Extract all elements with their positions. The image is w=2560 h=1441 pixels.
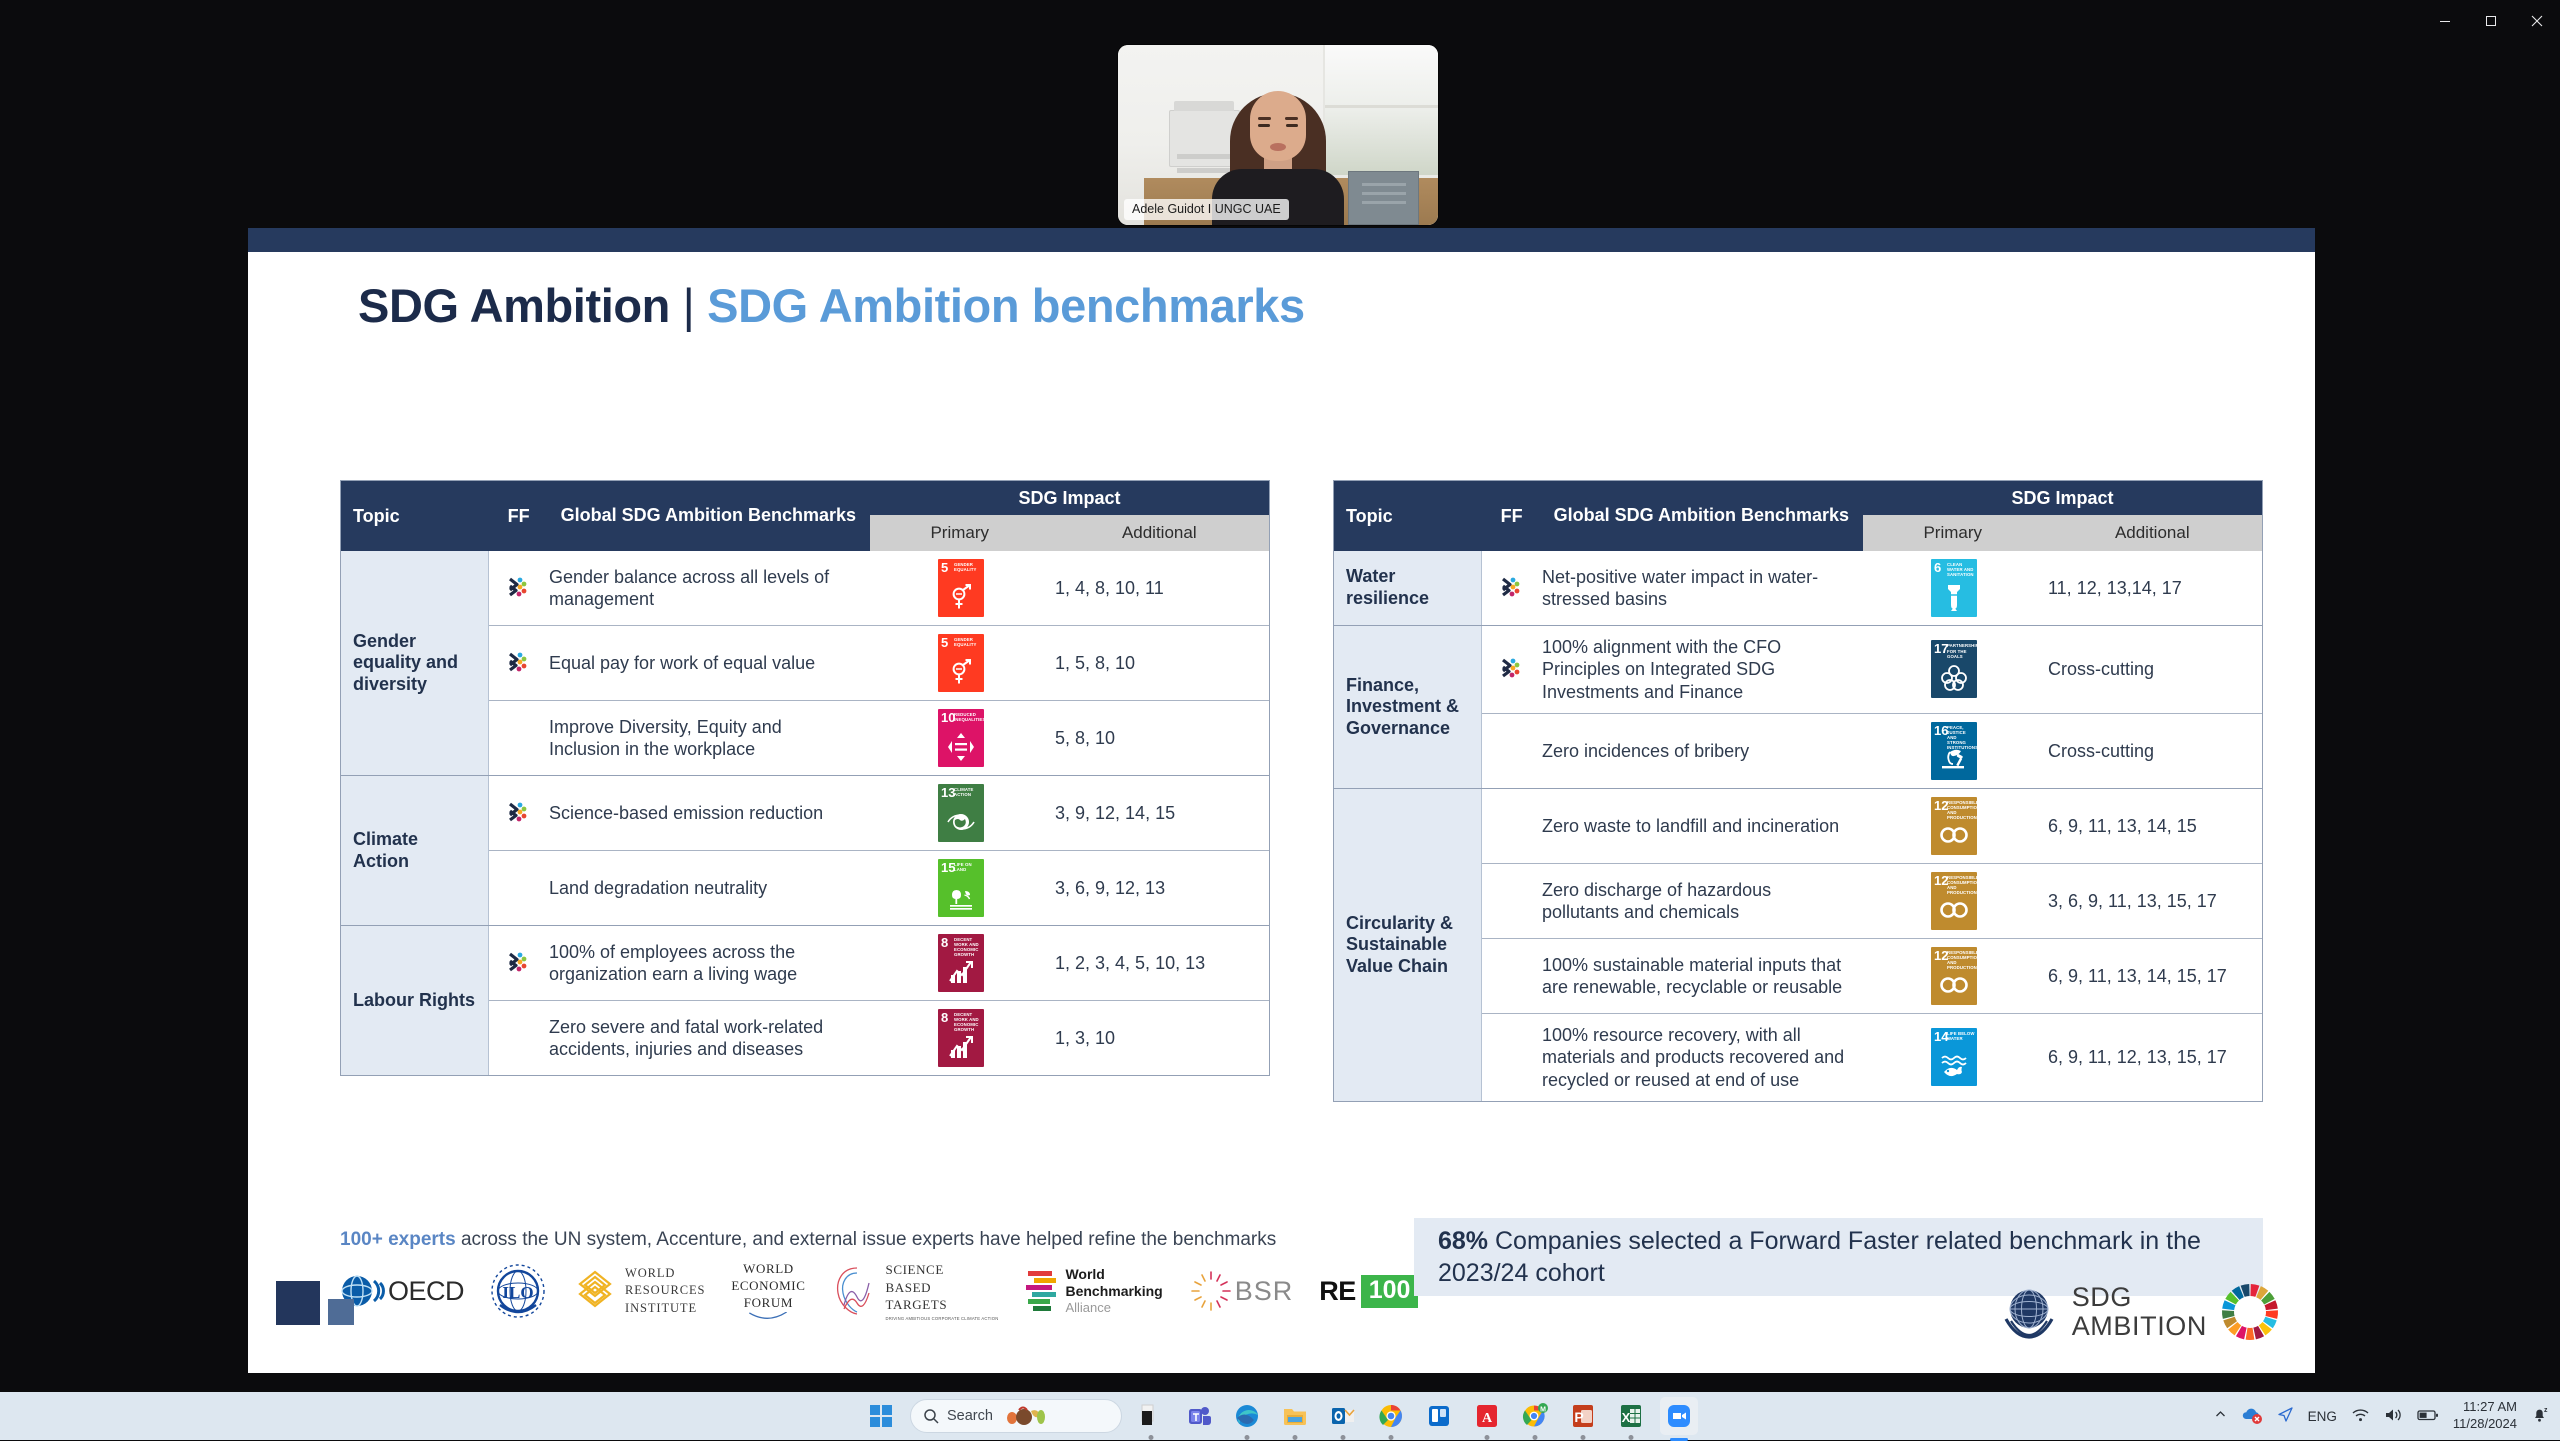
wba-bars-icon bbox=[1024, 1267, 1060, 1315]
taskbar-icon-teams[interactable] bbox=[1180, 1397, 1218, 1435]
wba-line2: Benchmarking bbox=[1065, 1283, 1162, 1300]
close-button[interactable] bbox=[2514, 0, 2560, 42]
table-row: Net-positive water impact in water-stres… bbox=[1482, 551, 2262, 625]
video-participant-tile[interactable]: Adele Guidot I UNGC UAE bbox=[1118, 45, 1438, 225]
start-button[interactable] bbox=[862, 1397, 900, 1435]
office-cabinet bbox=[1348, 171, 1418, 225]
topic-label: Finance, Investment & Governance bbox=[1334, 626, 1482, 788]
maximize-button[interactable] bbox=[2468, 0, 2514, 42]
forward-faster-icon bbox=[506, 800, 532, 826]
wef-line2: ECONOMIC bbox=[731, 1278, 805, 1295]
svg-text:P: P bbox=[1574, 1409, 1583, 1425]
re100-text-dark: RE bbox=[1319, 1276, 1356, 1307]
primary-sdg-cell: 12RESPONSIBLE CONSUMPTION AND PRODUCTION bbox=[1864, 939, 2044, 1013]
gender-equality-icon: 5GENDER EQUALITY bbox=[938, 559, 984, 617]
table-row: 100% of employees across the organizatio… bbox=[489, 926, 1269, 1000]
primary-sdg-cell: 8DECENT WORK AND ECONOMIC GROWTH bbox=[871, 926, 1051, 1000]
forward-faster-icon bbox=[506, 650, 532, 676]
topic-rows: Zero waste to landfill and incineration1… bbox=[1482, 789, 2262, 1101]
svg-text:A: A bbox=[1482, 1411, 1493, 1426]
benchmark-text: Zero waste to landfill and incineration bbox=[1542, 805, 1864, 847]
bsr-burst-icon bbox=[1189, 1269, 1233, 1313]
science-based-targets-logo: SCIENCE BASED TARGETS DRIVING AMBITIOUS … bbox=[832, 1261, 999, 1321]
callout-percent: 68% bbox=[1438, 1227, 1488, 1255]
wef-swoosh-icon bbox=[746, 1312, 790, 1321]
additional-sdgs: 5, 8, 10 bbox=[1051, 719, 1269, 757]
benchmark-text: Zero severe and fatal work-related accid… bbox=[549, 1006, 871, 1071]
table-header-right: Topic FF Global SDG Ambition Benchmarks … bbox=[1334, 481, 2262, 551]
forward-faster-cell bbox=[489, 950, 549, 976]
column-header-topic: Topic bbox=[1334, 481, 1482, 551]
oecd-logo: OECD bbox=[340, 1261, 464, 1321]
responsible-consumption-icon: 12RESPONSIBLE CONSUMPTION AND PRODUCTION bbox=[1931, 872, 1977, 930]
oecd-logo-text: OECD bbox=[388, 1276, 464, 1307]
bsr-logo-text: BSR bbox=[1235, 1276, 1294, 1307]
language-indicator[interactable]: ENG bbox=[2308, 1409, 2337, 1424]
topic-label: Labour Rights bbox=[341, 926, 489, 1075]
benchmark-text: Improve Diversity, Equity and Inclusion … bbox=[549, 706, 871, 771]
column-header-ff: FF bbox=[489, 481, 549, 551]
clock[interactable]: 11:27 AM 11/28/2024 bbox=[2453, 1399, 2517, 1432]
un-global-compact-icon bbox=[1998, 1281, 2060, 1343]
re100-logo: RE 100 bbox=[1319, 1261, 1418, 1321]
table-header-left: Topic FF Global SDG Ambition Benchmarks … bbox=[341, 481, 1269, 551]
column-header-sdg-impact: SDG Impact Primary Additional bbox=[870, 481, 1269, 551]
decorative-square-small bbox=[328, 1299, 354, 1325]
wri-line2: RESOURCES bbox=[625, 1282, 705, 1300]
topic-group: Finance, Investment & Governance100% ali… bbox=[1334, 625, 2262, 788]
taskbar-icon-trello[interactable] bbox=[1420, 1397, 1458, 1435]
search-icon bbox=[923, 1408, 939, 1424]
primary-sdg-cell: 10REDUCED INEQUALITIES bbox=[871, 701, 1051, 775]
column-header-topic: Topic bbox=[341, 481, 489, 551]
additional-sdgs: 3, 6, 9, 11, 13, 15, 17 bbox=[2044, 882, 2262, 920]
topic-group: Gender equality and diversityGender bala… bbox=[341, 551, 1269, 775]
primary-sdg-cell: 5GENDER EQUALITY bbox=[871, 626, 1051, 700]
partner-logos: OECD ILO WORLD bbox=[340, 1258, 1418, 1324]
bsr-logo: BSR bbox=[1189, 1261, 1294, 1321]
forward-faster-icon bbox=[1499, 656, 1525, 682]
topic-label: Gender equality and diversity bbox=[341, 551, 489, 775]
world-economic-forum-logo: WORLD ECONOMIC FORUM bbox=[731, 1261, 805, 1321]
brand-line1: SDG bbox=[2072, 1283, 2207, 1312]
primary-sdg-cell: 8DECENT WORK AND ECONOMIC GROWTH bbox=[871, 1001, 1051, 1075]
system-tray: ENG 11:27 AM 11/28/2024 bbox=[2214, 1392, 2548, 1440]
benchmark-text: Equal pay for work of equal value bbox=[549, 642, 871, 684]
topic-rows: 100% of employees across the organizatio… bbox=[489, 926, 1269, 1075]
benchmark-text: 100% alignment with the CFO Principles o… bbox=[1542, 626, 1864, 713]
table-body-right: Water resilienceNet-positive water impac… bbox=[1334, 551, 2262, 1101]
additional-sdgs: 6, 9, 11, 12, 13, 15, 17 bbox=[2044, 1038, 2262, 1076]
minimize-button[interactable] bbox=[2422, 0, 2468, 42]
ilo-emblem-icon: ILO bbox=[490, 1263, 546, 1319]
clock-date: 11/28/2024 bbox=[2453, 1416, 2517, 1433]
table-row: Land degradation neutrality15LIFE ON LAN… bbox=[489, 850, 1269, 925]
primary-sdg-cell: 16PEACE, JUSTICE AND STRONG INSTITUTIONS bbox=[1864, 714, 2044, 788]
world-benchmarking-alliance-logo: World Benchmarking Alliance bbox=[1024, 1261, 1162, 1321]
benchmark-text: Zero discharge of hazardous pollutants a… bbox=[1542, 869, 1864, 934]
table-body-left: Gender equality and diversityGender bala… bbox=[341, 551, 1269, 1075]
topic-label: Climate Action bbox=[341, 776, 489, 925]
experts-note: 100+ experts across the UN system, Accen… bbox=[340, 1229, 1276, 1251]
taskbar-icon-acrobat[interactable]: A bbox=[1468, 1397, 1506, 1435]
additional-sdgs: 1, 4, 8, 10, 11 bbox=[1051, 569, 1269, 607]
forward-faster-cell bbox=[1482, 575, 1542, 601]
sbt-tagline: DRIVING AMBITIOUS CORPORATE CLIMATE ACTI… bbox=[886, 1316, 999, 1321]
battery-icon[interactable] bbox=[2417, 1408, 2439, 1425]
benchmark-text: Gender balance across all levels of mana… bbox=[549, 556, 871, 621]
forward-faster-cell bbox=[1482, 656, 1542, 682]
additional-sdgs: 1, 2, 3, 4, 5, 10, 13 bbox=[1051, 944, 1269, 982]
wri-lattice-icon bbox=[572, 1268, 618, 1314]
slide-top-bar bbox=[248, 228, 2315, 252]
table-row: Zero discharge of hazardous pollutants a… bbox=[1482, 863, 2262, 938]
primary-sdg-cell: 14LIFE BELOW WATER bbox=[1864, 1020, 2044, 1094]
additional-sdgs: 11, 12, 13,14, 17 bbox=[2044, 569, 2262, 607]
ilo-logo: ILO bbox=[490, 1261, 546, 1321]
decent-work-icon: 8DECENT WORK AND ECONOMIC GROWTH bbox=[938, 1009, 984, 1067]
topic-group: Circularity & Sustainable Value ChainZer… bbox=[1334, 788, 2262, 1101]
table-row: Zero severe and fatal work-related accid… bbox=[489, 1000, 1269, 1075]
svg-text:z: z bbox=[2544, 1407, 2548, 1414]
life-on-land-icon: 15LIFE ON LAND bbox=[938, 859, 984, 917]
partnerships-icon: 17PARTNERSHIPS FOR THE GOALS bbox=[1931, 640, 1977, 698]
title-part-dark: SDG Ambition bbox=[358, 279, 670, 332]
taskbar-icon-file-explorer[interactable] bbox=[1276, 1397, 1314, 1435]
life-below-water-icon: 14LIFE BELOW WATER bbox=[1931, 1028, 1977, 1086]
topic-rows: Net-positive water impact in water-stres… bbox=[1482, 551, 2262, 625]
topic-label: Water resilience bbox=[1334, 551, 1482, 625]
column-header-sdg-impact: SDG Impact Primary Additional bbox=[1863, 481, 2262, 551]
taskbar-icon-edge[interactable] bbox=[1228, 1397, 1266, 1435]
wba-line3: Alliance bbox=[1065, 1300, 1162, 1316]
svg-text:M: M bbox=[1540, 1407, 1546, 1414]
sbt-line3: TARGETS bbox=[886, 1296, 999, 1314]
svg-text:X: X bbox=[1622, 1410, 1631, 1425]
additional-sdgs: 3, 9, 12, 14, 15 bbox=[1051, 794, 1269, 832]
presentation-slide: SDG Ambition | SDG Ambition benchmarks T… bbox=[248, 228, 2315, 1373]
clean-water-icon: 6CLEAN WATER AND SANITATION bbox=[1931, 559, 1977, 617]
taskbar-icon-lens[interactable] bbox=[1132, 1397, 1170, 1435]
forward-faster-icon bbox=[506, 575, 532, 601]
participant-name-label: Adele Guidot I UNGC UAE bbox=[1124, 199, 1289, 221]
topic-rows: 100% alignment with the CFO Principles o… bbox=[1482, 626, 2262, 788]
wri-line3: INSTITUTE bbox=[625, 1300, 705, 1318]
topic-rows: Science-based emission reduction13CLIMAT… bbox=[489, 776, 1269, 925]
table-row: Equal pay for work of equal value5GENDER… bbox=[489, 625, 1269, 700]
sbt-line2: BASED bbox=[886, 1279, 999, 1297]
taskbar-icon-excel[interactable]: X bbox=[1612, 1397, 1650, 1435]
volume-icon[interactable] bbox=[2384, 1407, 2403, 1426]
additional-sdgs: 6, 9, 11, 13, 14, 15, 17 bbox=[2044, 957, 2262, 995]
sdg-ambition-brand: SDG AMBITION bbox=[1998, 1281, 2281, 1343]
wef-line3: FORUM bbox=[731, 1295, 805, 1312]
title-separator: | bbox=[683, 279, 695, 332]
reduced-inequalities-icon: 10REDUCED INEQUALITIES bbox=[938, 709, 984, 767]
re100-badge: 100 bbox=[1361, 1275, 1419, 1308]
benchmarks-table-right: Topic FF Global SDG Ambition Benchmarks … bbox=[1333, 480, 2263, 1102]
sdg-impact-label: SDG Impact bbox=[2011, 481, 2113, 515]
experts-count: 100+ experts bbox=[340, 1229, 456, 1250]
forward-faster-cell bbox=[489, 575, 549, 601]
gender-equality-icon: 5GENDER EQUALITY bbox=[938, 634, 984, 692]
decent-work-icon: 8DECENT WORK AND ECONOMIC GROWTH bbox=[938, 934, 984, 992]
column-header-additional: Additional bbox=[2043, 523, 2262, 543]
peace-justice-icon: 16PEACE, JUSTICE AND STRONG INSTITUTIONS bbox=[1931, 722, 1977, 780]
clock-time: 11:27 AM bbox=[2453, 1399, 2517, 1416]
primary-sdg-cell: 13CLIMATE ACTION bbox=[871, 776, 1051, 850]
taskbar-icon-chrome-gmail[interactable]: M bbox=[1516, 1397, 1554, 1435]
decorative-square-large bbox=[276, 1281, 320, 1325]
benchmark-text: Science-based emission reduction bbox=[549, 792, 871, 834]
callout-text: Companies selected a Forward Faster rela… bbox=[1438, 1227, 2201, 1287]
column-header-primary: Primary bbox=[870, 523, 1050, 543]
primary-sdg-cell: 6CLEAN WATER AND SANITATION bbox=[1864, 551, 2044, 625]
benchmark-text: Zero incidences of bribery bbox=[1542, 730, 1864, 772]
taskbar-icon-powerpoint[interactable]: P bbox=[1564, 1397, 1602, 1435]
additional-sdgs: 6, 9, 11, 13, 14, 15 bbox=[2044, 807, 2262, 845]
notification-bell-icon[interactable]: z bbox=[2531, 1406, 2548, 1426]
benchmark-text: 100% resource recovery, with all materia… bbox=[1542, 1014, 1864, 1101]
window-controls bbox=[2422, 0, 2560, 42]
topic-label: Circularity & Sustainable Value Chain bbox=[1334, 789, 1482, 1101]
forward-faster-icon bbox=[1499, 575, 1525, 601]
responsible-consumption-icon: 12RESPONSIBLE CONSUMPTION AND PRODUCTION bbox=[1931, 947, 1977, 1005]
sbt-curves-icon bbox=[832, 1265, 882, 1317]
table-row: Gender balance across all levels of mana… bbox=[489, 551, 1269, 625]
windows-taskbar: Search bbox=[0, 1392, 2560, 1440]
send-to-icon[interactable] bbox=[2277, 1406, 2294, 1426]
decorative-squares bbox=[276, 1281, 354, 1325]
table-row: Science-based emission reduction13CLIMAT… bbox=[489, 776, 1269, 850]
table-row: Improve Diversity, Equity and Inclusion … bbox=[489, 700, 1269, 775]
additional-sdgs: 3, 6, 9, 12, 13 bbox=[1051, 869, 1269, 907]
column-header-ff: FF bbox=[1482, 481, 1542, 551]
column-header-additional: Additional bbox=[1050, 523, 1269, 543]
sbt-line1: SCIENCE bbox=[886, 1261, 999, 1279]
onedrive-error-icon[interactable] bbox=[2241, 1406, 2263, 1427]
additional-sdgs: 1, 3, 10 bbox=[1051, 1019, 1269, 1057]
wba-line1: World bbox=[1065, 1266, 1162, 1283]
benchmark-text: 100% of employees across the organizatio… bbox=[549, 931, 871, 996]
table-row: Zero incidences of bribery16PEACE, JUSTI… bbox=[1482, 713, 2262, 788]
tray-expand-icon[interactable] bbox=[2214, 1408, 2227, 1424]
benchmark-text: Net-positive water impact in water-stres… bbox=[1542, 556, 1864, 621]
search-box[interactable]: Search bbox=[910, 1399, 1122, 1433]
wri-line1: WORLD bbox=[625, 1265, 705, 1283]
page-title: SDG Ambition | SDG Ambition benchmarks bbox=[358, 278, 1305, 333]
taskbar-icon-zoom[interactable] bbox=[1660, 1397, 1698, 1435]
responsible-consumption-icon: 12RESPONSIBLE CONSUMPTION AND PRODUCTION bbox=[1931, 797, 1977, 855]
benchmarks-table-left: Topic FF Global SDG Ambition Benchmarks … bbox=[340, 480, 1270, 1076]
additional-sdgs: Cross-cutting bbox=[2044, 732, 2262, 770]
wifi-icon[interactable] bbox=[2351, 1407, 2370, 1426]
taskbar-icon-outlook[interactable] bbox=[1324, 1397, 1362, 1435]
additional-sdgs: 1, 5, 8, 10 bbox=[1051, 644, 1269, 682]
topic-group: Water resilienceNet-positive water impac… bbox=[1334, 551, 2262, 625]
primary-sdg-cell: 15LIFE ON LAND bbox=[871, 851, 1051, 925]
additional-sdgs: Cross-cutting bbox=[2044, 650, 2262, 688]
wef-line1: WORLD bbox=[731, 1261, 805, 1278]
primary-sdg-cell: 17PARTNERSHIPS FOR THE GOALS bbox=[1864, 632, 2044, 706]
column-header-benchmarks: Global SDG Ambition Benchmarks bbox=[549, 481, 870, 551]
primary-sdg-cell: 12RESPONSIBLE CONSUMPTION AND PRODUCTION bbox=[1864, 789, 2044, 863]
forward-faster-cell bbox=[489, 650, 549, 676]
benchmark-text: Land degradation neutrality bbox=[549, 867, 871, 909]
thanksgiving-doodle-icon bbox=[1005, 1405, 1051, 1427]
forward-faster-cell bbox=[489, 800, 549, 826]
topic-group: Climate ActionScience-based emission red… bbox=[341, 775, 1269, 925]
table-row: 100% resource recovery, with all materia… bbox=[1482, 1013, 2262, 1101]
brand-line2: AMBITION bbox=[2072, 1312, 2207, 1341]
world-resources-institute-logo: WORLD RESOURCES INSTITUTE bbox=[572, 1261, 705, 1321]
search-placeholder: Search bbox=[947, 1408, 993, 1424]
primary-sdg-cell: 12RESPONSIBLE CONSUMPTION AND PRODUCTION bbox=[1864, 864, 2044, 938]
primary-sdg-cell: 5GENDER EQUALITY bbox=[871, 551, 1051, 625]
benchmark-text: 100% sustainable material inputs that ar… bbox=[1542, 944, 1864, 1009]
taskbar-icon-chrome[interactable] bbox=[1372, 1397, 1410, 1435]
topic-rows: Gender balance across all levels of mana… bbox=[489, 551, 1269, 775]
column-header-benchmarks: Global SDG Ambition Benchmarks bbox=[1542, 481, 1863, 551]
column-header-primary: Primary bbox=[1863, 523, 2043, 543]
table-row: Zero waste to landfill and incineration1… bbox=[1482, 789, 2262, 863]
experts-note-rest: across the UN system, Accenture, and ext… bbox=[456, 1229, 1277, 1250]
topic-group: Labour Rights100% of employees across th… bbox=[341, 925, 1269, 1075]
brand-wordmark: SDG AMBITION bbox=[2072, 1283, 2207, 1340]
title-part-blue: SDG Ambition benchmarks bbox=[707, 279, 1305, 332]
sdg-impact-label: SDG Impact bbox=[1018, 481, 1120, 515]
table-row: 100% sustainable material inputs that ar… bbox=[1482, 938, 2262, 1013]
forward-faster-icon bbox=[506, 950, 532, 976]
climate-action-icon: 13CLIMATE ACTION bbox=[938, 784, 984, 842]
svg-text:ILO: ILO bbox=[502, 1283, 533, 1302]
sdg-color-wheel-icon bbox=[2219, 1281, 2281, 1343]
table-row: 100% alignment with the CFO Principles o… bbox=[1482, 626, 2262, 713]
